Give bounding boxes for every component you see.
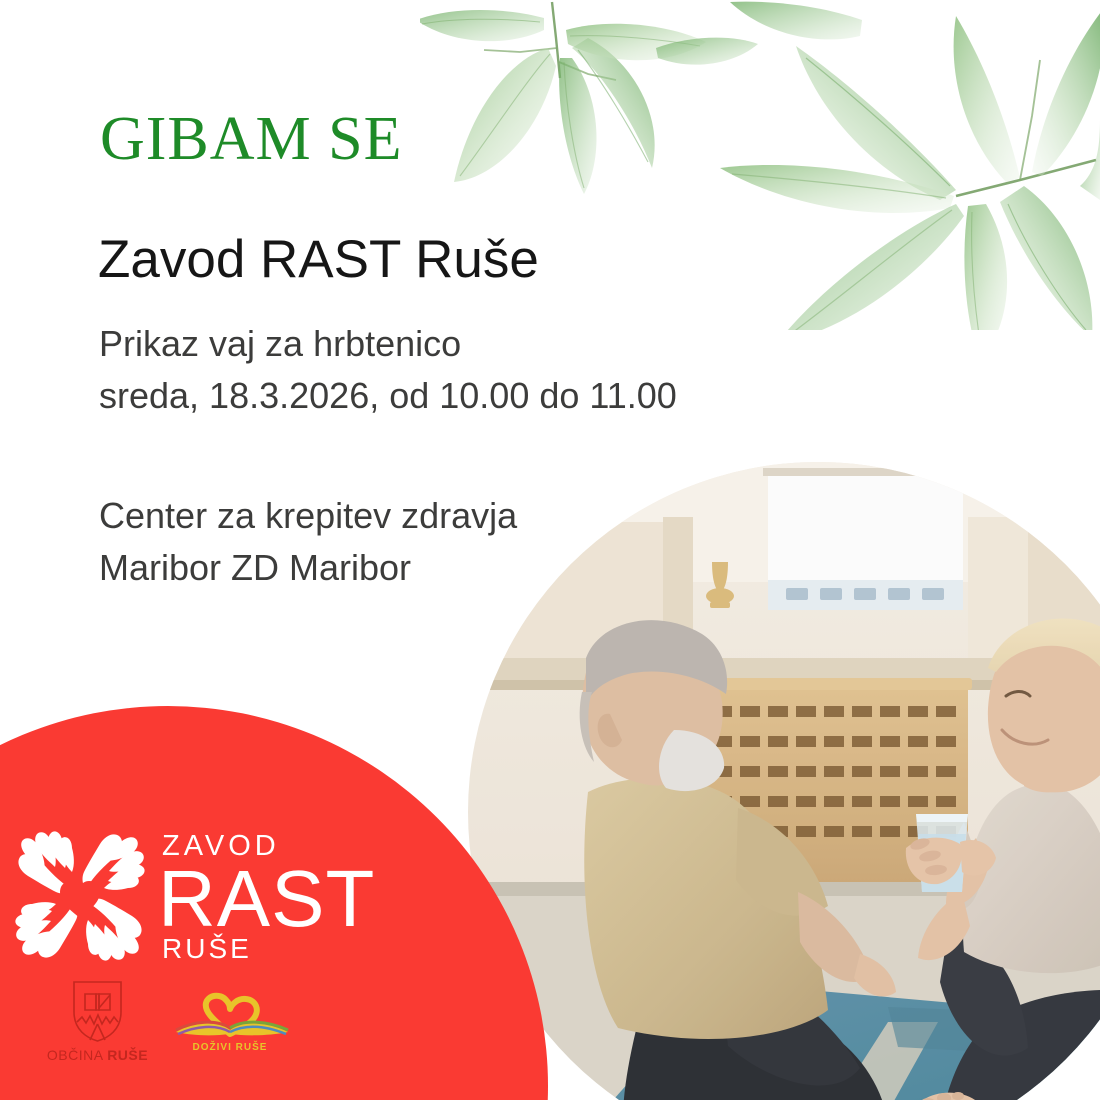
venue-line-2: Maribor ZD Maribor xyxy=(99,542,517,594)
obcina-name: RUŠE xyxy=(107,1047,148,1063)
zavod-rast-logo: ZAVOD RAST RUŠE xyxy=(10,823,390,968)
obcina-ruse-label: OBČINA RUŠE xyxy=(30,1048,165,1062)
venue-line-1: Center za krepitev zdravja xyxy=(99,490,517,542)
poster-canvas: GIBAM SE Zavod RAST Ruše Prikaz vaj za h… xyxy=(0,0,1100,1100)
obcina-ruse-logo: OBČINA RUŠE xyxy=(30,978,165,1062)
seniors-exercising-photo xyxy=(468,462,1100,1100)
event-venue: Center za krepitev zdravja Maribor ZD Ma… xyxy=(99,490,517,594)
heart-book-icon: DOŽIVI RUŠE xyxy=(168,990,308,1052)
dozivi-ruse-label: DOŽIVI RUŠE xyxy=(193,1040,268,1052)
obcina-prefix: OBČINA xyxy=(47,1047,107,1063)
event-datetime: sreda, 18.3.2026, od 10.00 do 11.00 xyxy=(99,370,677,422)
event-activity: Prikaz vaj za hrbtenico xyxy=(99,318,677,370)
event-details: Prikaz vaj za hrbtenico sreda, 18.3.2026… xyxy=(99,318,677,422)
ruse-coat-of-arms-icon xyxy=(30,978,165,1044)
organization-name: Zavod RAST Ruše xyxy=(98,232,539,288)
dozivi-ruse-logo: DOŽIVI RUŠE xyxy=(168,990,308,1052)
partner-logos: OBČINA RUŠE DOŽIVI RUŠE xyxy=(18,978,318,1078)
four-hands-heart-icon xyxy=(10,826,150,966)
logo-rast-text: RAST xyxy=(158,859,375,939)
page-title: GIBAM SE xyxy=(100,108,403,170)
